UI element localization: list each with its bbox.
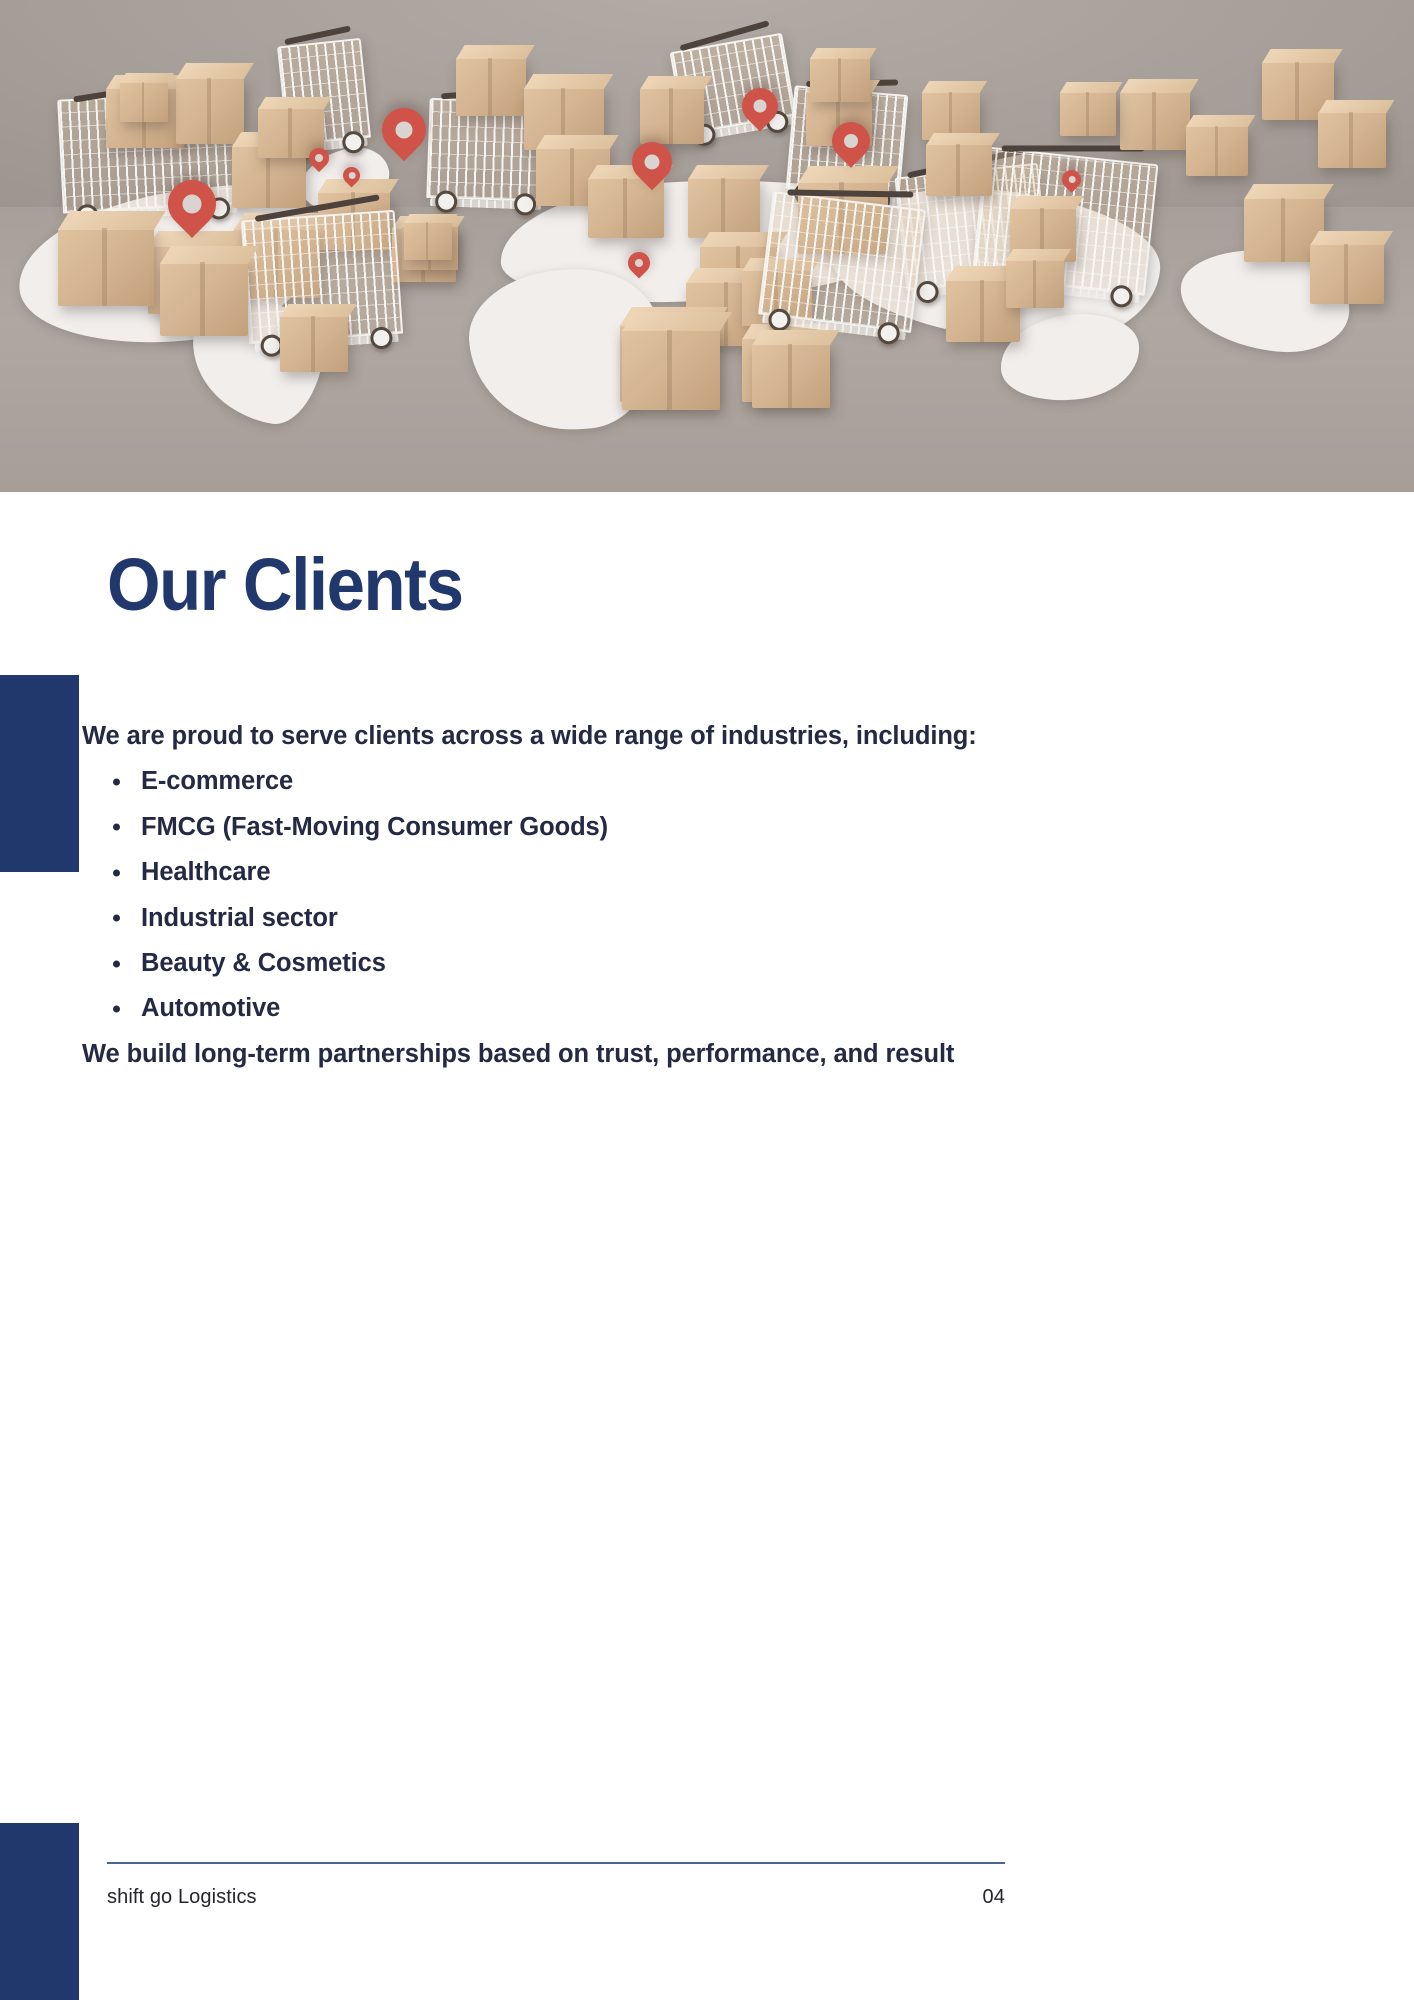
parcel-box-icon xyxy=(1318,112,1386,168)
footer: shift go Logistics 04 xyxy=(107,1862,1005,1909)
map-pin-hole xyxy=(183,195,202,214)
industries-list: E-commerce FMCG (Fast-Moving Consumer Go… xyxy=(82,759,1047,1031)
map-pin-hole xyxy=(754,100,767,113)
body-copy: We are proud to serve clients across a w… xyxy=(82,714,1047,1077)
shopping-cart-icon xyxy=(758,191,926,333)
parcel-box-icon xyxy=(926,144,992,196)
footer-divider xyxy=(107,1862,1005,1864)
parcel-box-icon xyxy=(456,58,526,116)
parcel-box-icon xyxy=(688,178,760,238)
accent-bar-bottom xyxy=(0,1823,79,2000)
map-pin-hole xyxy=(1068,176,1075,183)
map-pin-hole xyxy=(645,155,660,170)
parcel-box-icon xyxy=(810,58,870,102)
footer-row: shift go Logistics 04 xyxy=(107,1886,1005,1909)
parcel-box-icon xyxy=(1120,92,1190,150)
parcel-box-icon xyxy=(640,88,704,144)
accent-bar-top xyxy=(0,675,79,872)
parcel-box-icon xyxy=(120,82,168,122)
map-pin-hole xyxy=(635,259,643,267)
hero-image xyxy=(0,0,1414,492)
map-pin-hole xyxy=(315,154,323,162)
list-item: Healthcare xyxy=(82,850,1047,895)
parcel-box-icon xyxy=(622,330,720,410)
parcel-box-icon xyxy=(404,222,452,260)
map-pin-hole xyxy=(844,134,858,148)
parcel-box-icon xyxy=(1006,260,1064,308)
parcel-box-icon xyxy=(160,262,248,336)
list-item: Industrial sector xyxy=(82,896,1047,941)
parcel-box-icon xyxy=(752,344,830,408)
list-item: Beauty & Cosmetics xyxy=(82,941,1047,986)
parcel-box-icon xyxy=(1060,92,1116,136)
parcel-box-icon xyxy=(176,78,244,144)
map-pin-hole xyxy=(396,122,413,139)
parcel-box-icon xyxy=(1310,244,1384,304)
outro-paragraph: We build long-term partnerships based on… xyxy=(82,1032,1047,1077)
map-pin-hole xyxy=(348,172,355,179)
parcel-box-icon xyxy=(1186,126,1248,176)
footer-brand: shift go Logistics xyxy=(107,1886,257,1909)
intro-paragraph: We are proud to serve clients across a w… xyxy=(82,714,1047,759)
content-area: Our Clients We are proud to serve client… xyxy=(107,548,1047,1077)
page-number: 04 xyxy=(983,1886,1005,1909)
list-item: Automotive xyxy=(82,986,1047,1031)
page-title: Our Clients xyxy=(107,548,981,622)
list-item: FMCG (Fast-Moving Consumer Goods) xyxy=(82,805,1047,850)
parcel-box-icon xyxy=(58,228,154,306)
parcel-box-icon xyxy=(280,316,348,372)
list-item: E-commerce xyxy=(82,759,1047,804)
cart-handle xyxy=(787,189,913,197)
